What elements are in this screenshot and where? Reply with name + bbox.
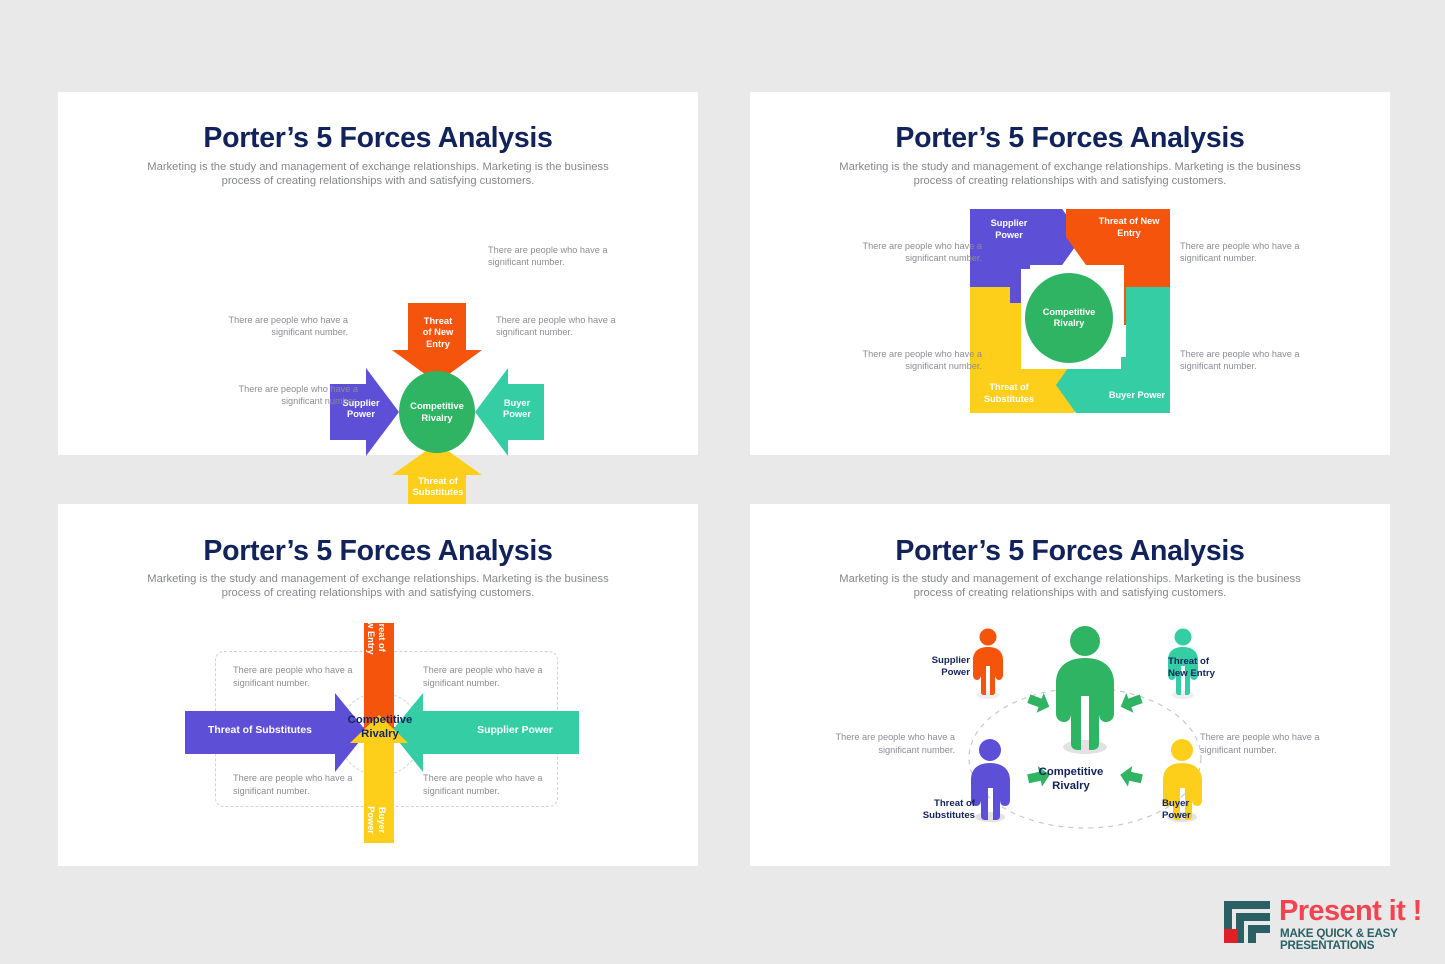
label-line-2: Power: [1162, 810, 1191, 821]
logo-tagline: MAKE QUICK & EASY PRESENTATIONS: [1280, 928, 1422, 951]
center-competitive-rivalry[interactable]: Competitive Rivalry: [399, 371, 475, 453]
label-line-1: Threat of: [1168, 656, 1209, 667]
label-line-2: New Entry: [366, 610, 376, 655]
label-threat-of-substitutes: Threat of Substitutes: [972, 382, 1046, 405]
shadow-bottom-left: [975, 812, 1005, 822]
label-line-2: Entry: [1117, 228, 1141, 238]
label-line-1: Buyer: [504, 398, 530, 408]
note-bottom-left: There are people who have a significant …: [233, 772, 353, 797]
shadow-top-right: [1172, 691, 1194, 699]
label-line-1: Buyer: [377, 807, 387, 833]
label-threat-of-substitutes: Threat of Substitutes: [195, 725, 325, 737]
center-label-line2: Rivalry: [361, 728, 399, 740]
note-bottom-left: There are people who have a significant …: [208, 383, 358, 408]
label-line-2: of New: [423, 327, 453, 337]
logo-mark-icon: [1222, 899, 1272, 945]
shadow-top-left: [977, 691, 999, 699]
label-threat-of-new-entry: Threat of New Entry: [1082, 216, 1176, 239]
label-line-1: Threat of: [989, 382, 1028, 392]
person-competitive-rivalry[interactable]: [1056, 626, 1114, 750]
note-bottom-right: There are people who have a significant …: [1180, 348, 1332, 373]
label-line-2: New Entry: [1168, 668, 1215, 679]
label-line-1: Threat of: [934, 798, 975, 809]
label-line-1: Buyer: [1162, 798, 1189, 809]
center-competitive-rivalry[interactable]: Competitive Rivalry: [338, 714, 422, 742]
person-supplier-power[interactable]: [973, 629, 1003, 696]
label-line-2: Substitutes: [984, 394, 1034, 404]
label-buyer-power: Buyer Power: [1162, 798, 1232, 822]
label-line-1: Supplier: [932, 655, 970, 666]
center-competitive-rivalry[interactable]: Competitive Rivalry: [1018, 765, 1124, 793]
label-line-1: Threat of New: [1099, 216, 1160, 226]
connector-arrow-top-right: [1117, 689, 1145, 716]
note-top-right: There are people who have a significant …: [423, 664, 543, 689]
note-top-right: There are people who have a significant …: [488, 244, 638, 269]
note-top-right: There are people who have a significant …: [1180, 240, 1332, 265]
label-line-2: Substitutes: [413, 487, 464, 497]
note-bottom-left: There are people who have a significant …: [830, 348, 982, 373]
connector-arrow-top-left: [1025, 689, 1053, 716]
label-line-3: Entry: [426, 339, 450, 349]
label-supplier-power: Supplier Power: [455, 725, 575, 737]
center-label-line1: Competitive: [348, 714, 413, 726]
label-buyer-power: Buyer Power: [365, 789, 387, 851]
label-supplier-power: Supplier Power: [900, 655, 970, 679]
label-threat-of-substitutes: Threat of Substitutes: [895, 798, 975, 822]
center-label-line2: Rivalry: [1054, 318, 1085, 328]
note-top-left: There are people who have a significant …: [830, 240, 982, 265]
center-label-line2: Rivalry: [1052, 780, 1090, 792]
page-subtitle: Marketing is the study and management of…: [822, 572, 1318, 600]
note-right: There are people who have a significant …: [496, 314, 646, 339]
label-threat-of-new-entry: Threat of New Entry: [365, 597, 387, 667]
center-label-line2: Rivalry: [421, 412, 452, 423]
page-subtitle: Marketing is the study and management of…: [822, 160, 1318, 188]
label-threat-of-substitutes: Threat of Substitutes: [403, 476, 473, 499]
label-line-1: Threat of: [377, 612, 387, 651]
label-line-2: Substitutes: [923, 810, 975, 821]
note-left: There are people who have a significant …: [198, 314, 348, 339]
label-line-2: Power: [503, 409, 531, 419]
shadow-center: [1063, 740, 1107, 754]
label-buyer-power: Buyer Power: [1092, 390, 1182, 402]
page-title: Porter’s 5 Forces Analysis: [58, 535, 698, 568]
note-top-left: There are people who have a significant …: [233, 664, 353, 689]
label-line-1: Threat of: [418, 476, 458, 486]
label-line-1: Supplier: [991, 218, 1028, 228]
note-left: There are people who have a significant …: [820, 731, 955, 756]
logo-wordmark: Present it !: [1279, 897, 1422, 926]
slide-deck-canvas: Porter’s 5 Forces Analysis Marketing is …: [0, 0, 1445, 964]
label-supplier-power: Supplier Power: [974, 218, 1044, 241]
center-label-line1: Competitive: [1043, 307, 1096, 317]
label-buyer-power: Buyer Power: [488, 398, 546, 421]
center-competitive-rivalry[interactable]: Competitive Rivalry: [1025, 273, 1113, 363]
note-bottom-right: There are people who have a significant …: [423, 772, 543, 797]
slide-card-1[interactable]: Porter’s 5 Forces Analysis Marketing is …: [58, 92, 698, 455]
label-line-2: Power: [347, 409, 375, 419]
porter-arrow-diagram-1: Competitive Rivalry Threat of New Entry …: [58, 92, 698, 455]
label-line-2: Power: [995, 230, 1023, 240]
label-line-2: Power: [366, 806, 376, 834]
page-title: Porter’s 5 Forces Analysis: [750, 535, 1390, 568]
label-threat-of-new-entry: Threat of New Entry: [403, 316, 473, 350]
center-label-line1: Competitive: [410, 400, 464, 411]
brand-logo[interactable]: Present it ! MAKE QUICK & EASY PRESENTAT…: [1222, 897, 1422, 951]
label-line-2: Power: [941, 667, 970, 678]
center-label-line1: Competitive: [1039, 766, 1104, 778]
label-threat-of-new-entry: Threat of New Entry: [1168, 656, 1244, 680]
page-title: Porter’s 5 Forces Analysis: [750, 122, 1390, 155]
note-right: There are people who have a significant …: [1200, 731, 1335, 756]
label-line-1: Threat: [424, 316, 452, 326]
